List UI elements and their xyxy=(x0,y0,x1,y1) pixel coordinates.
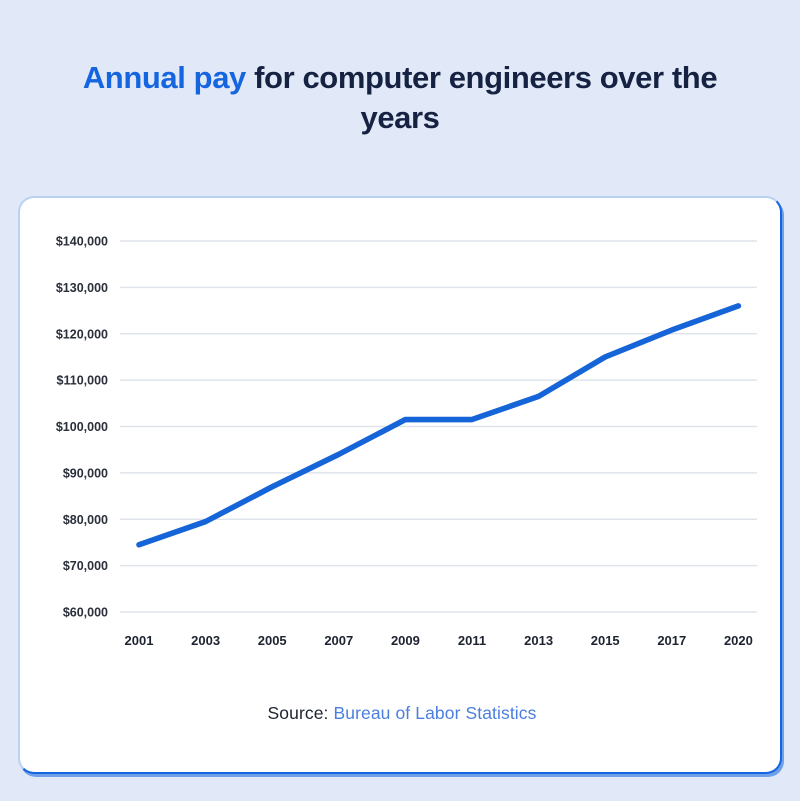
y-axis-tick-label: $100,000 xyxy=(56,420,108,434)
x-axis-tick-label: 2003 xyxy=(191,633,220,648)
x-axis-tick-label: 2005 xyxy=(258,633,287,648)
chart-data-line xyxy=(139,306,738,545)
y-axis-tick-label: $70,000 xyxy=(63,559,108,573)
line-chart: $140,000$130,000$120,000$110,000$100,000… xyxy=(20,198,784,776)
page-title-accent: Annual pay xyxy=(83,60,246,95)
y-axis-tick-label: $90,000 xyxy=(63,466,108,480)
x-axis-tick-label: 2001 xyxy=(125,633,154,648)
y-axis-tick-label: $110,000 xyxy=(57,374,108,388)
y-axis-tick-label: $60,000 xyxy=(63,606,108,620)
y-axis-tick-label: $140,000 xyxy=(56,235,108,249)
chart-gridlines xyxy=(120,241,757,612)
x-axis-tick-label: 2015 xyxy=(591,633,620,648)
chart-card: $140,000$130,000$120,000$110,000$100,000… xyxy=(18,196,782,774)
source-prefix-label: Source: xyxy=(268,703,334,723)
source-attribution: Source: Bureau of Labor Statistics xyxy=(20,703,784,724)
x-axis-tick-label: 2017 xyxy=(657,633,686,648)
chart-x-axis-labels: 2001200320052007200920112013201520172020 xyxy=(125,633,753,648)
y-axis-tick-label: $130,000 xyxy=(56,281,108,295)
x-axis-tick-label: 2013 xyxy=(524,633,553,648)
y-axis-tick-label: $80,000 xyxy=(63,513,108,527)
chart-y-axis-labels: $140,000$130,000$120,000$110,000$100,000… xyxy=(56,235,108,620)
x-axis-tick-label: 2020 xyxy=(724,633,753,648)
x-axis-tick-label: 2009 xyxy=(391,633,420,648)
source-link[interactable]: Bureau of Labor Statistics xyxy=(333,703,536,723)
chart-container: $140,000$130,000$120,000$110,000$100,000… xyxy=(20,198,784,776)
x-axis-tick-label: 2011 xyxy=(458,633,486,648)
page-title: Annual pay for computer engineers over t… xyxy=(0,58,800,139)
y-axis-tick-label: $120,000 xyxy=(56,327,108,341)
page-title-rest: for computer engineers over the years xyxy=(246,60,717,135)
x-axis-tick-label: 2007 xyxy=(324,633,353,648)
